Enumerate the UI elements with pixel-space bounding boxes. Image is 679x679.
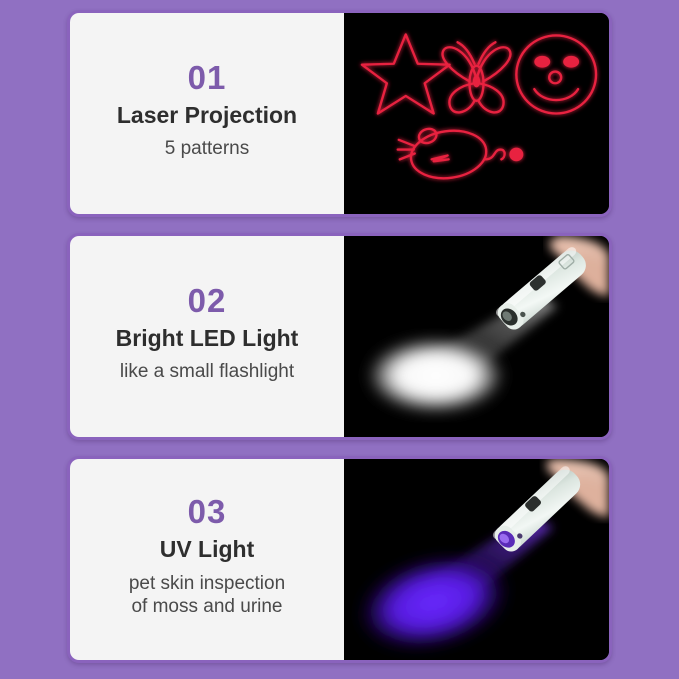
led-flashlight-media (344, 236, 609, 437)
laser-dot-icon (509, 148, 523, 162)
card-title: Bright LED Light (116, 325, 299, 351)
card-title: UV Light (160, 536, 255, 562)
card-text-panel: 03 UV Light pet skin inspection of moss … (70, 459, 344, 660)
card-title: Laser Projection (117, 102, 297, 128)
card-subtitle: like a small flashlight (120, 360, 294, 384)
card-subtitle: 5 patterns (165, 137, 250, 161)
feature-card-bright-led-light: 02 Bright LED Light like a small flashli… (67, 233, 612, 440)
card-subtitle-line-1: pet skin inspection (129, 572, 285, 596)
uv-flashlight-photo (344, 459, 609, 660)
card-number: 02 (188, 283, 227, 319)
card-number: 01 (188, 60, 227, 96)
uv-light-media (344, 459, 609, 660)
feature-card-uv-light: 03 UV Light pet skin inspection of moss … (67, 456, 612, 663)
card-text-panel: 02 Bright LED Light like a small flashli… (70, 236, 344, 437)
infographic-root: 01 Laser Projection 5 patterns (0, 0, 679, 679)
led-flashlight-photo (344, 236, 609, 437)
card-number: 03 (188, 494, 227, 530)
feature-card-laser-projection: 01 Laser Projection 5 patterns (67, 10, 612, 217)
laser-patterns-media (344, 13, 609, 214)
card-text-panel: 01 Laser Projection 5 patterns (70, 13, 344, 214)
laser-pattern-illustration (344, 13, 609, 214)
card-subtitle-line-2: of moss and urine (129, 595, 285, 619)
light-pool (364, 337, 507, 415)
media-background (344, 13, 609, 214)
card-subtitle: pet skin inspection of moss and urine (129, 572, 285, 620)
